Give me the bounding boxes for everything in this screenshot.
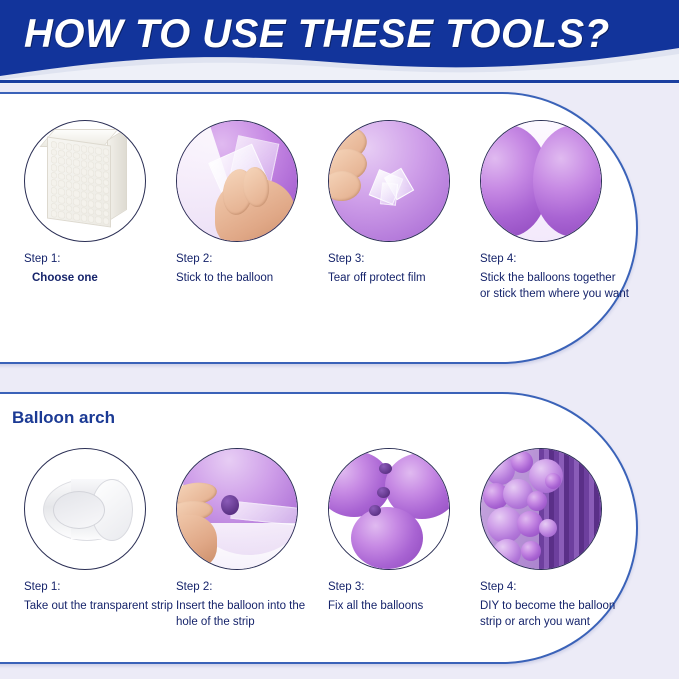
step-cell-2-4: Step 4: DIY to become the balloon strip … [480,448,632,631]
step-text: Choose one [24,271,176,287]
step-caption: Step 1: Take out the transparent strip [24,579,176,614]
steps-row-top: Step 1: Choose one [0,94,636,362]
step-text: Fix all the balloons [328,599,480,615]
page-title: HOW TO USE THESE TOOLS? [24,12,664,57]
glue-dot-sheet-image [24,120,146,242]
peeling-film-image [328,120,450,242]
step-text: Tear off protect film [328,271,480,287]
balloons-together-image [480,120,602,242]
step-cell-2-1: Step 1: Take out the transparent strip [24,448,176,614]
step-label: Step 1: [24,251,176,268]
tape-roll-image [24,448,146,570]
header-banner: HOW TO USE THESE TOOLS? [0,0,679,84]
step-cell-1-4: Step 4: Stick the balloons together or s… [480,120,632,303]
step-caption: Step 3: Tear off protect film [328,251,480,286]
hand-sticking-strip-image [176,120,298,242]
step-text-line2: hole of the strip [176,615,328,631]
step-caption: Step 1: Choose one [24,251,176,286]
panel-balloon-arch: Balloon arch Step 1: Take out the transp… [0,392,638,664]
step-label: Step 4: [480,251,632,268]
step-label: Step 3: [328,251,480,268]
step-label: Step 1: [24,579,176,596]
steps-row-bottom: Step 1: Take out the transparent strip [0,394,636,662]
step-caption: Step 4: DIY to become the balloon strip … [480,579,632,631]
step-caption: Step 2: Insert the balloon into the hole… [176,579,328,631]
step-text-line2: strip or arch you want [480,615,632,631]
step-cell-2-2: Step 2: Insert the balloon into the hole… [176,448,328,631]
balloons-fixed-image [328,448,450,570]
step-caption: Step 4: Stick the balloons together or s… [480,251,632,303]
header-underline [0,80,679,83]
step-text: Insert the balloon into the [176,599,328,615]
step-caption: Step 3: Fix all the balloons [328,579,480,614]
infographic-page: HOW TO USE THESE TOOLS? [0,0,679,679]
insert-balloon-image [176,448,298,570]
step-text: Take out the transparent strip [24,599,176,615]
step-cell-1-3: Step 3: Tear off protect film [328,120,480,286]
step-text: DIY to become the balloon [480,599,632,615]
glue-dot-grid [49,139,111,228]
step-label: Step 2: [176,251,328,268]
step-label: Step 2: [176,579,328,596]
step-text: Stick the balloons together [480,271,632,287]
step-cell-1-2: Step 2: Stick to the balloon [176,120,328,286]
step-label: Step 4: [480,579,632,596]
panel-basic-steps: Step 1: Choose one [0,92,638,364]
finished-arch-image [480,448,602,570]
step-text: Stick to the balloon [176,271,328,287]
step-cell-1-1: Step 1: Choose one [24,120,176,286]
step-label: Step 3: [328,579,480,596]
step-text-line2: or stick them where you want [480,287,632,303]
step-caption: Step 2: Stick to the balloon [176,251,328,286]
step-cell-2-3: Step 3: Fix all the balloons [328,448,480,614]
